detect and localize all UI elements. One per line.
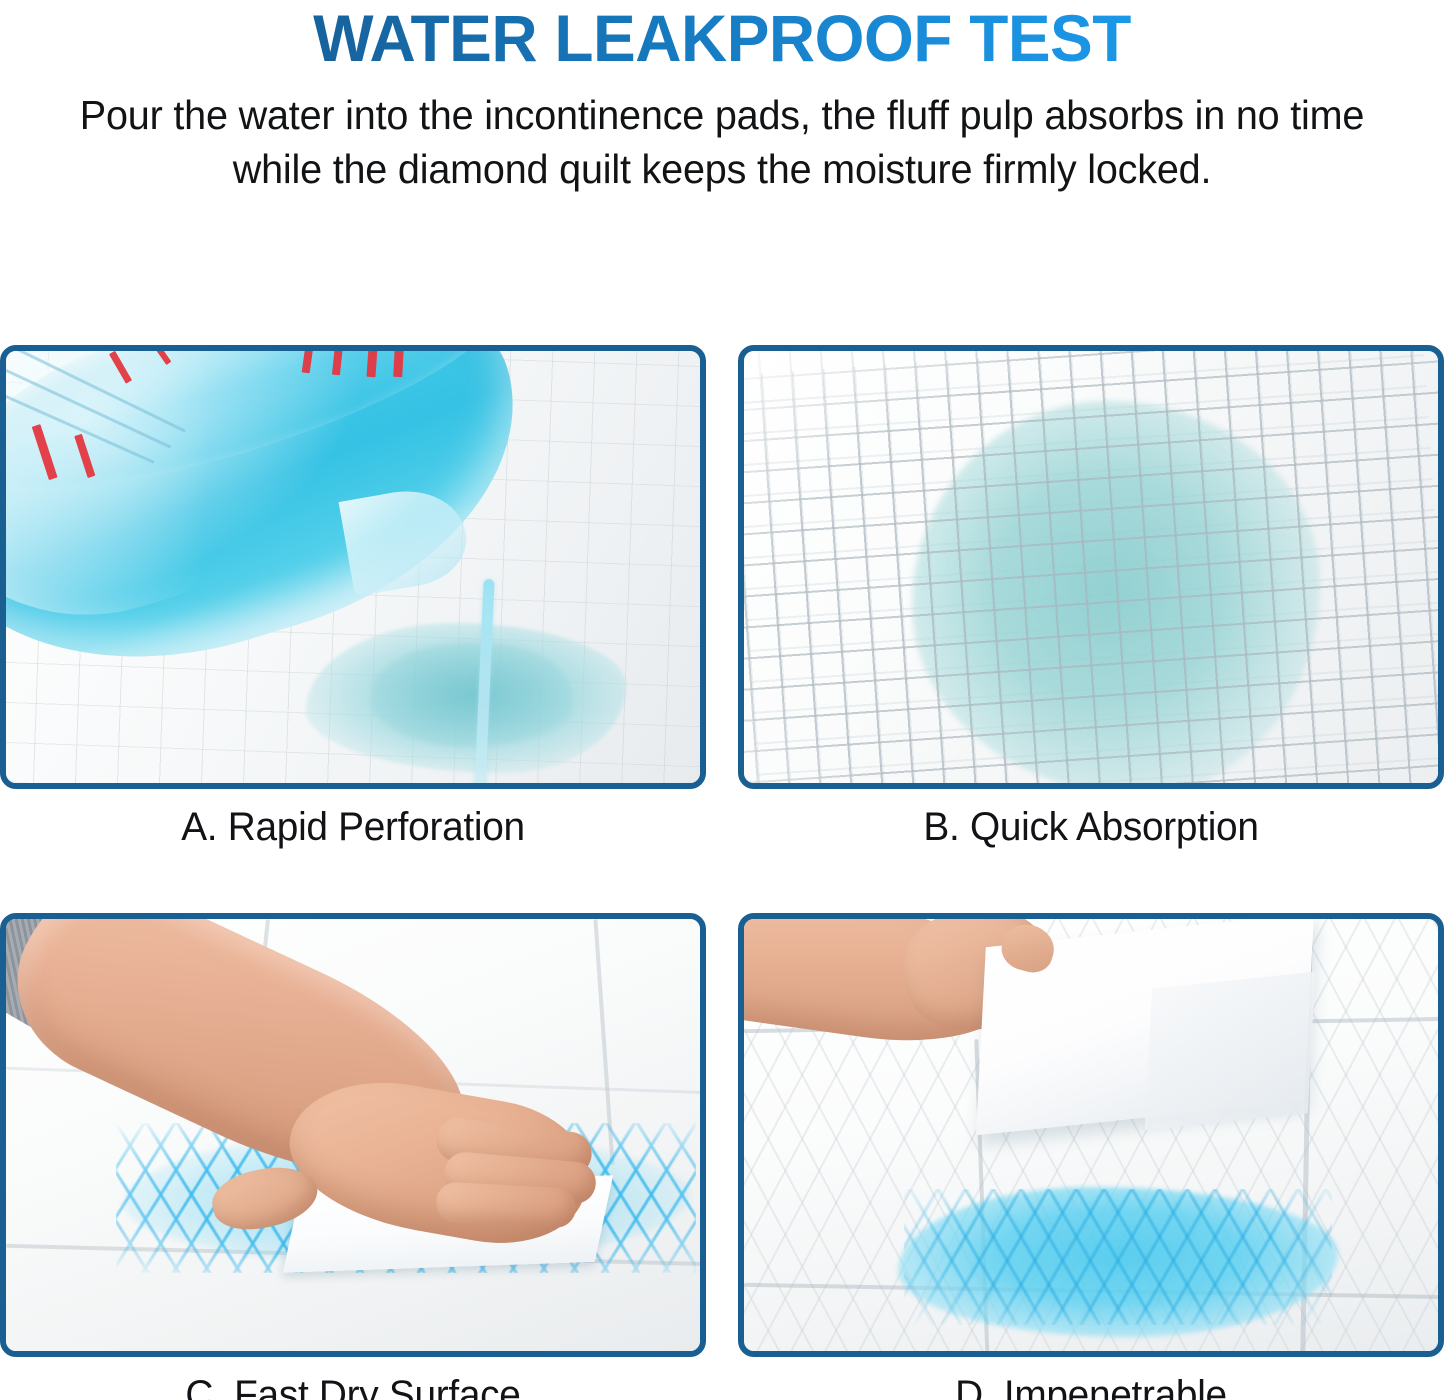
panel-b: B. Quick Absorption xyxy=(738,345,1444,849)
panel-a-photo xyxy=(6,351,700,783)
panel-b-frame xyxy=(738,345,1444,789)
finger xyxy=(435,1181,577,1228)
panel-b-photo xyxy=(744,351,1438,783)
red-marking xyxy=(393,347,404,377)
page-title: WATER LEAKPROOF TEST xyxy=(22,4,1423,74)
tissue-fold xyxy=(1145,972,1316,1131)
square-quilt-grid xyxy=(738,345,1444,789)
panel-c-photo xyxy=(6,919,700,1351)
panel-b-caption: B. Quick Absorption xyxy=(749,805,1434,849)
infographic-page: WATER LEAKPROOF TEST Pour the water into… xyxy=(0,0,1444,1400)
panel-c: C. Fast Dry Surface xyxy=(0,913,706,1400)
panel-a-frame xyxy=(0,345,706,789)
header: WATER LEAKPROOF TEST Pour the water into… xyxy=(0,0,1444,196)
panel-c-frame xyxy=(0,913,706,1357)
glass-measuring-cup xyxy=(0,345,566,679)
panel-row-bottom: C. Fast Dry Surface xyxy=(0,913,1444,1400)
wet-patch-quilt-texture xyxy=(904,1189,1332,1325)
panel-a: A. Rapid Perforation xyxy=(0,345,706,849)
panel-a-caption: A. Rapid Perforation xyxy=(11,805,696,849)
panel-c-caption: C. Fast Dry Surface xyxy=(11,1373,696,1400)
panel-d-photo xyxy=(744,919,1438,1351)
panel-grid: A. Rapid Perforation B. Quick Absorption xyxy=(0,345,1444,1400)
panel-row-top: A. Rapid Perforation B. Quick Absorption xyxy=(0,345,1444,849)
panel-d-frame xyxy=(738,913,1444,1357)
page-subtitle: Pour the water into the incontinence pad… xyxy=(25,88,1418,196)
panel-d: D. Impenetrable xyxy=(738,913,1444,1400)
panel-d-caption: D. Impenetrable xyxy=(749,1373,1434,1400)
